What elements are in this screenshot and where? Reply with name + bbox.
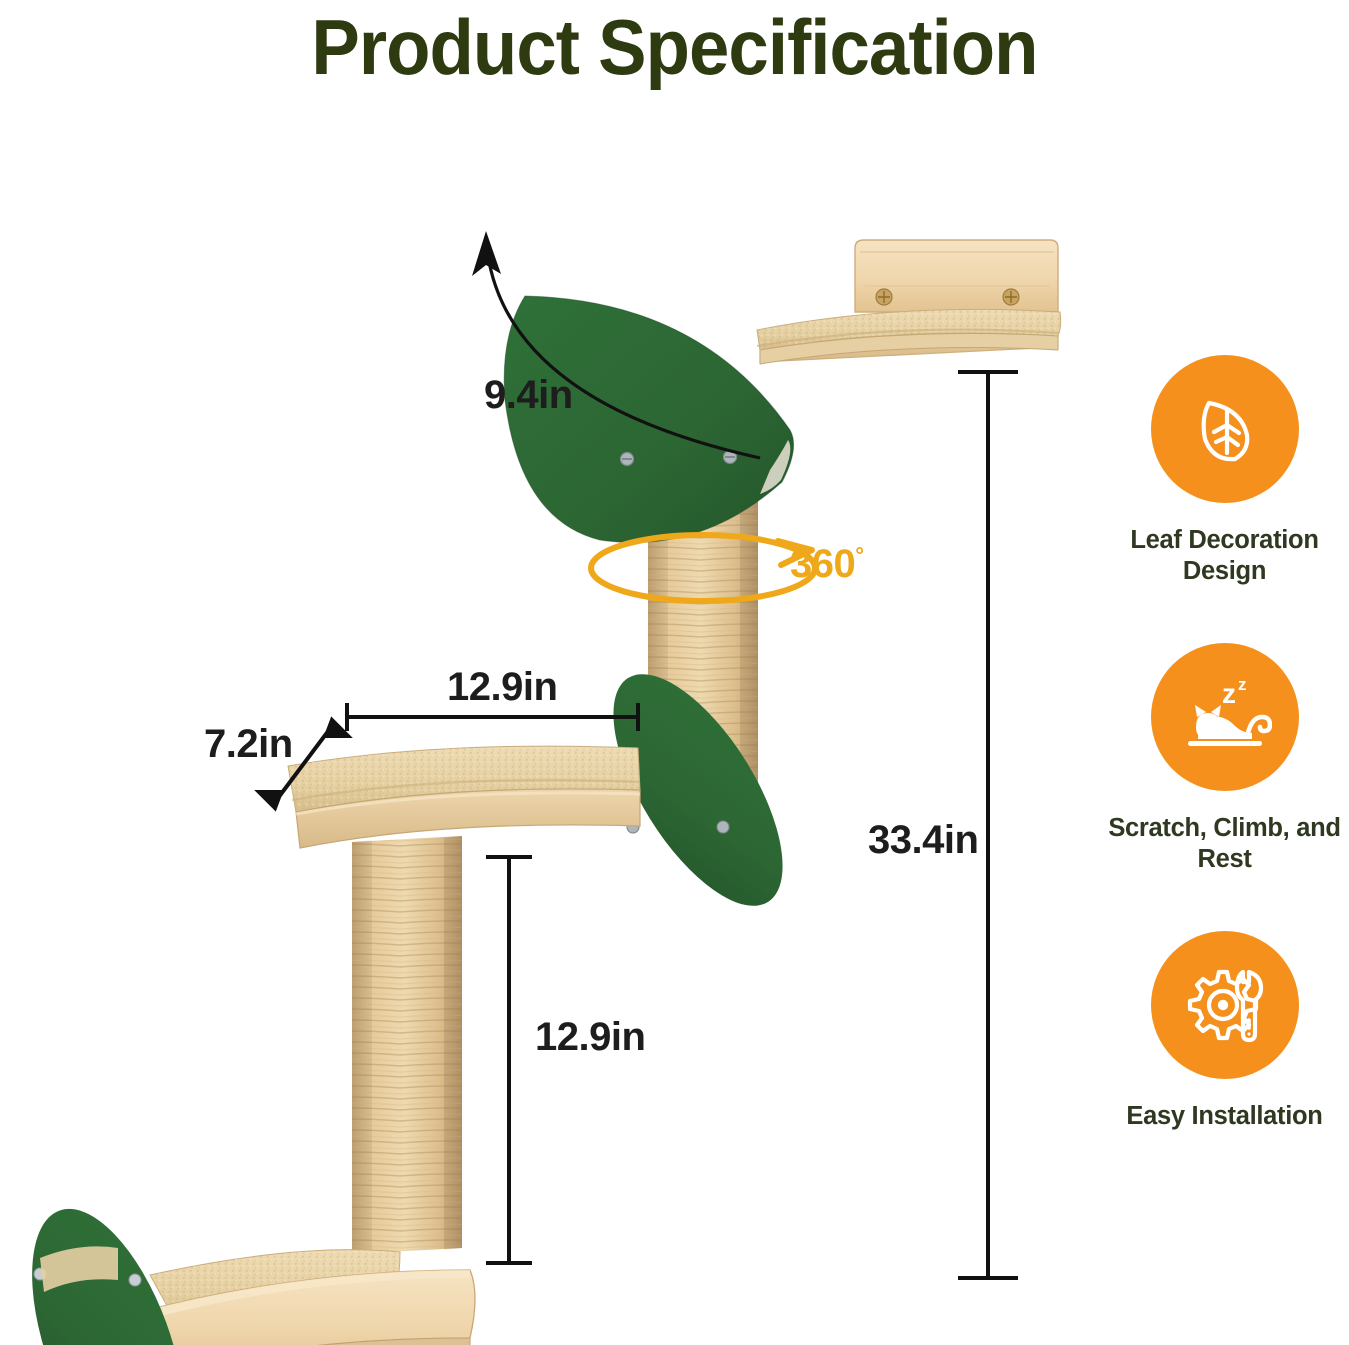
product-specification-page: Product Specification: [0, 0, 1349, 1345]
gear-wrench-icon: [1181, 962, 1269, 1048]
top-leaf-decoration: [504, 296, 793, 543]
rotation-value: 360: [790, 542, 855, 586]
dimension-label-leaf-length: 9.4in: [484, 373, 573, 418]
feature-icon-circle: [1151, 355, 1299, 503]
page-title: Product Specification: [47, 2, 1302, 93]
dimension-label-shelf-width: 12.9in: [447, 665, 557, 710]
feature-label: Scratch, Climb, and Rest: [1107, 813, 1342, 875]
feature-item-easy-installation: Easy Installation: [1100, 931, 1349, 1132]
feature-icon-circle: [1151, 931, 1299, 1079]
leaf-icon: [1183, 387, 1267, 471]
feature-list: Leaf Decoration Design z z: [1100, 355, 1349, 1133]
middle-shelf: [288, 746, 640, 848]
dimension-label-post-height: 12.9in: [535, 1015, 645, 1060]
svg-text:z: z: [1222, 678, 1236, 709]
svg-text:z: z: [1238, 675, 1247, 694]
base-platform: [140, 1250, 475, 1345]
top-wall-shelf: [757, 240, 1061, 364]
rotation-badge-label: 360°: [790, 542, 864, 587]
product-illustration: [0, 100, 1100, 1345]
feature-item-scratch-climb-rest: z z Scratch,: [1100, 643, 1349, 875]
feature-label: Easy Installation: [1126, 1101, 1322, 1132]
dimension-label-total-height: 33.4in: [868, 818, 978, 863]
dimension-label-shelf-depth: 7.2in: [204, 722, 293, 767]
feature-label: Leaf Decoration Design: [1107, 525, 1342, 587]
feature-icon-circle: z z: [1151, 643, 1299, 791]
lower-sisal-post: [352, 836, 462, 1254]
degree-symbol: °: [855, 543, 863, 568]
dimension-post-height: [486, 857, 532, 1263]
sleeping-cat-icon: z z: [1178, 673, 1272, 761]
feature-item-leaf-decoration: Leaf Decoration Design: [1100, 355, 1349, 587]
